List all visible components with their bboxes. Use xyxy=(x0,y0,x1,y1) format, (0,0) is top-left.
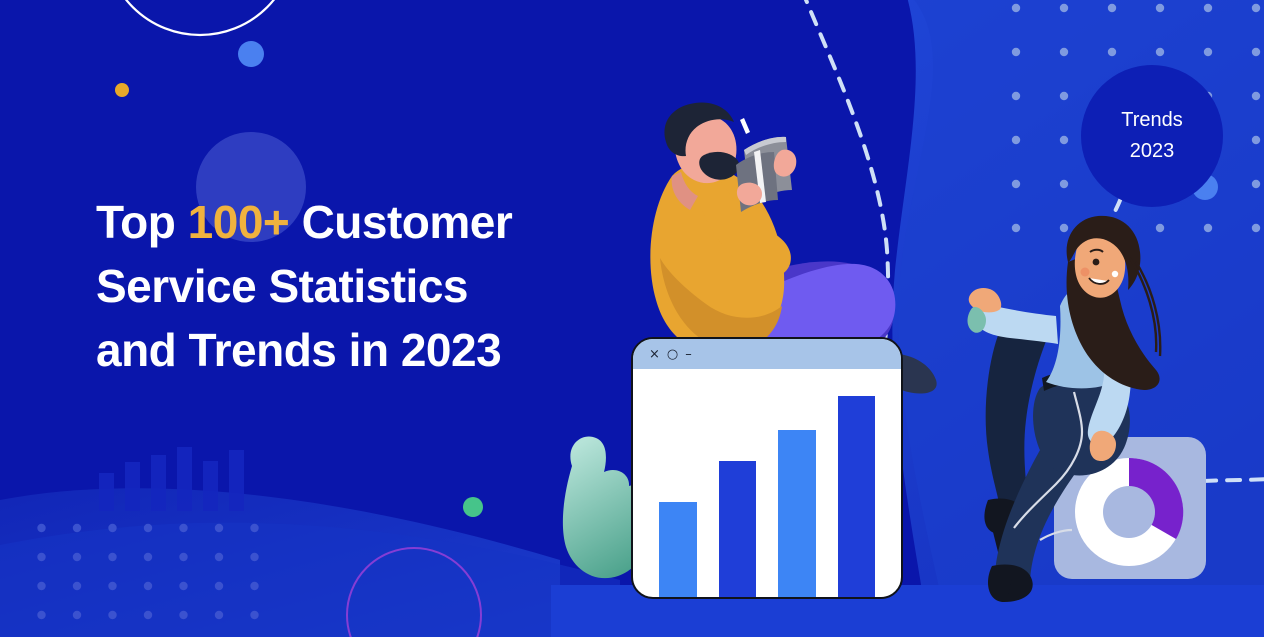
woman-earring xyxy=(1112,271,1118,277)
trends-badge-line-2: 2023 xyxy=(1130,136,1175,167)
headline-line-1: Top 100+ Customer xyxy=(96,190,616,254)
bar-chart xyxy=(633,369,901,597)
trends-badge-line-1: Trends xyxy=(1121,105,1183,136)
headline-pre: Top xyxy=(96,196,188,248)
bar-2 xyxy=(719,461,757,597)
page-title: Top 100+ Customer Service Statistics and… xyxy=(96,190,616,382)
woman-cheek xyxy=(1081,268,1090,277)
maximize-icon[interactable]: ○ xyxy=(667,348,678,361)
window-titlebar: × ○ – xyxy=(633,339,901,369)
headline-post: Customer xyxy=(289,196,512,248)
bar-3 xyxy=(778,430,816,597)
woman-eye xyxy=(1093,259,1100,266)
donut-chart xyxy=(1075,458,1183,566)
bar-1 xyxy=(659,502,697,597)
chart-window[interactable]: × ○ – xyxy=(631,337,903,599)
minimize-icon[interactable]: – xyxy=(685,348,692,361)
headline-line-2: Service Statistics xyxy=(96,254,616,318)
headline-line-3: and Trends in 2023 xyxy=(96,318,616,382)
headline-accent: 100+ xyxy=(188,196,290,248)
bar-4 xyxy=(838,396,876,597)
close-icon[interactable]: × xyxy=(649,348,660,361)
trends-badge: Trends 2023 xyxy=(1081,65,1223,207)
hero-banner: Top 100+ Customer Service Statistics and… xyxy=(0,0,1264,637)
